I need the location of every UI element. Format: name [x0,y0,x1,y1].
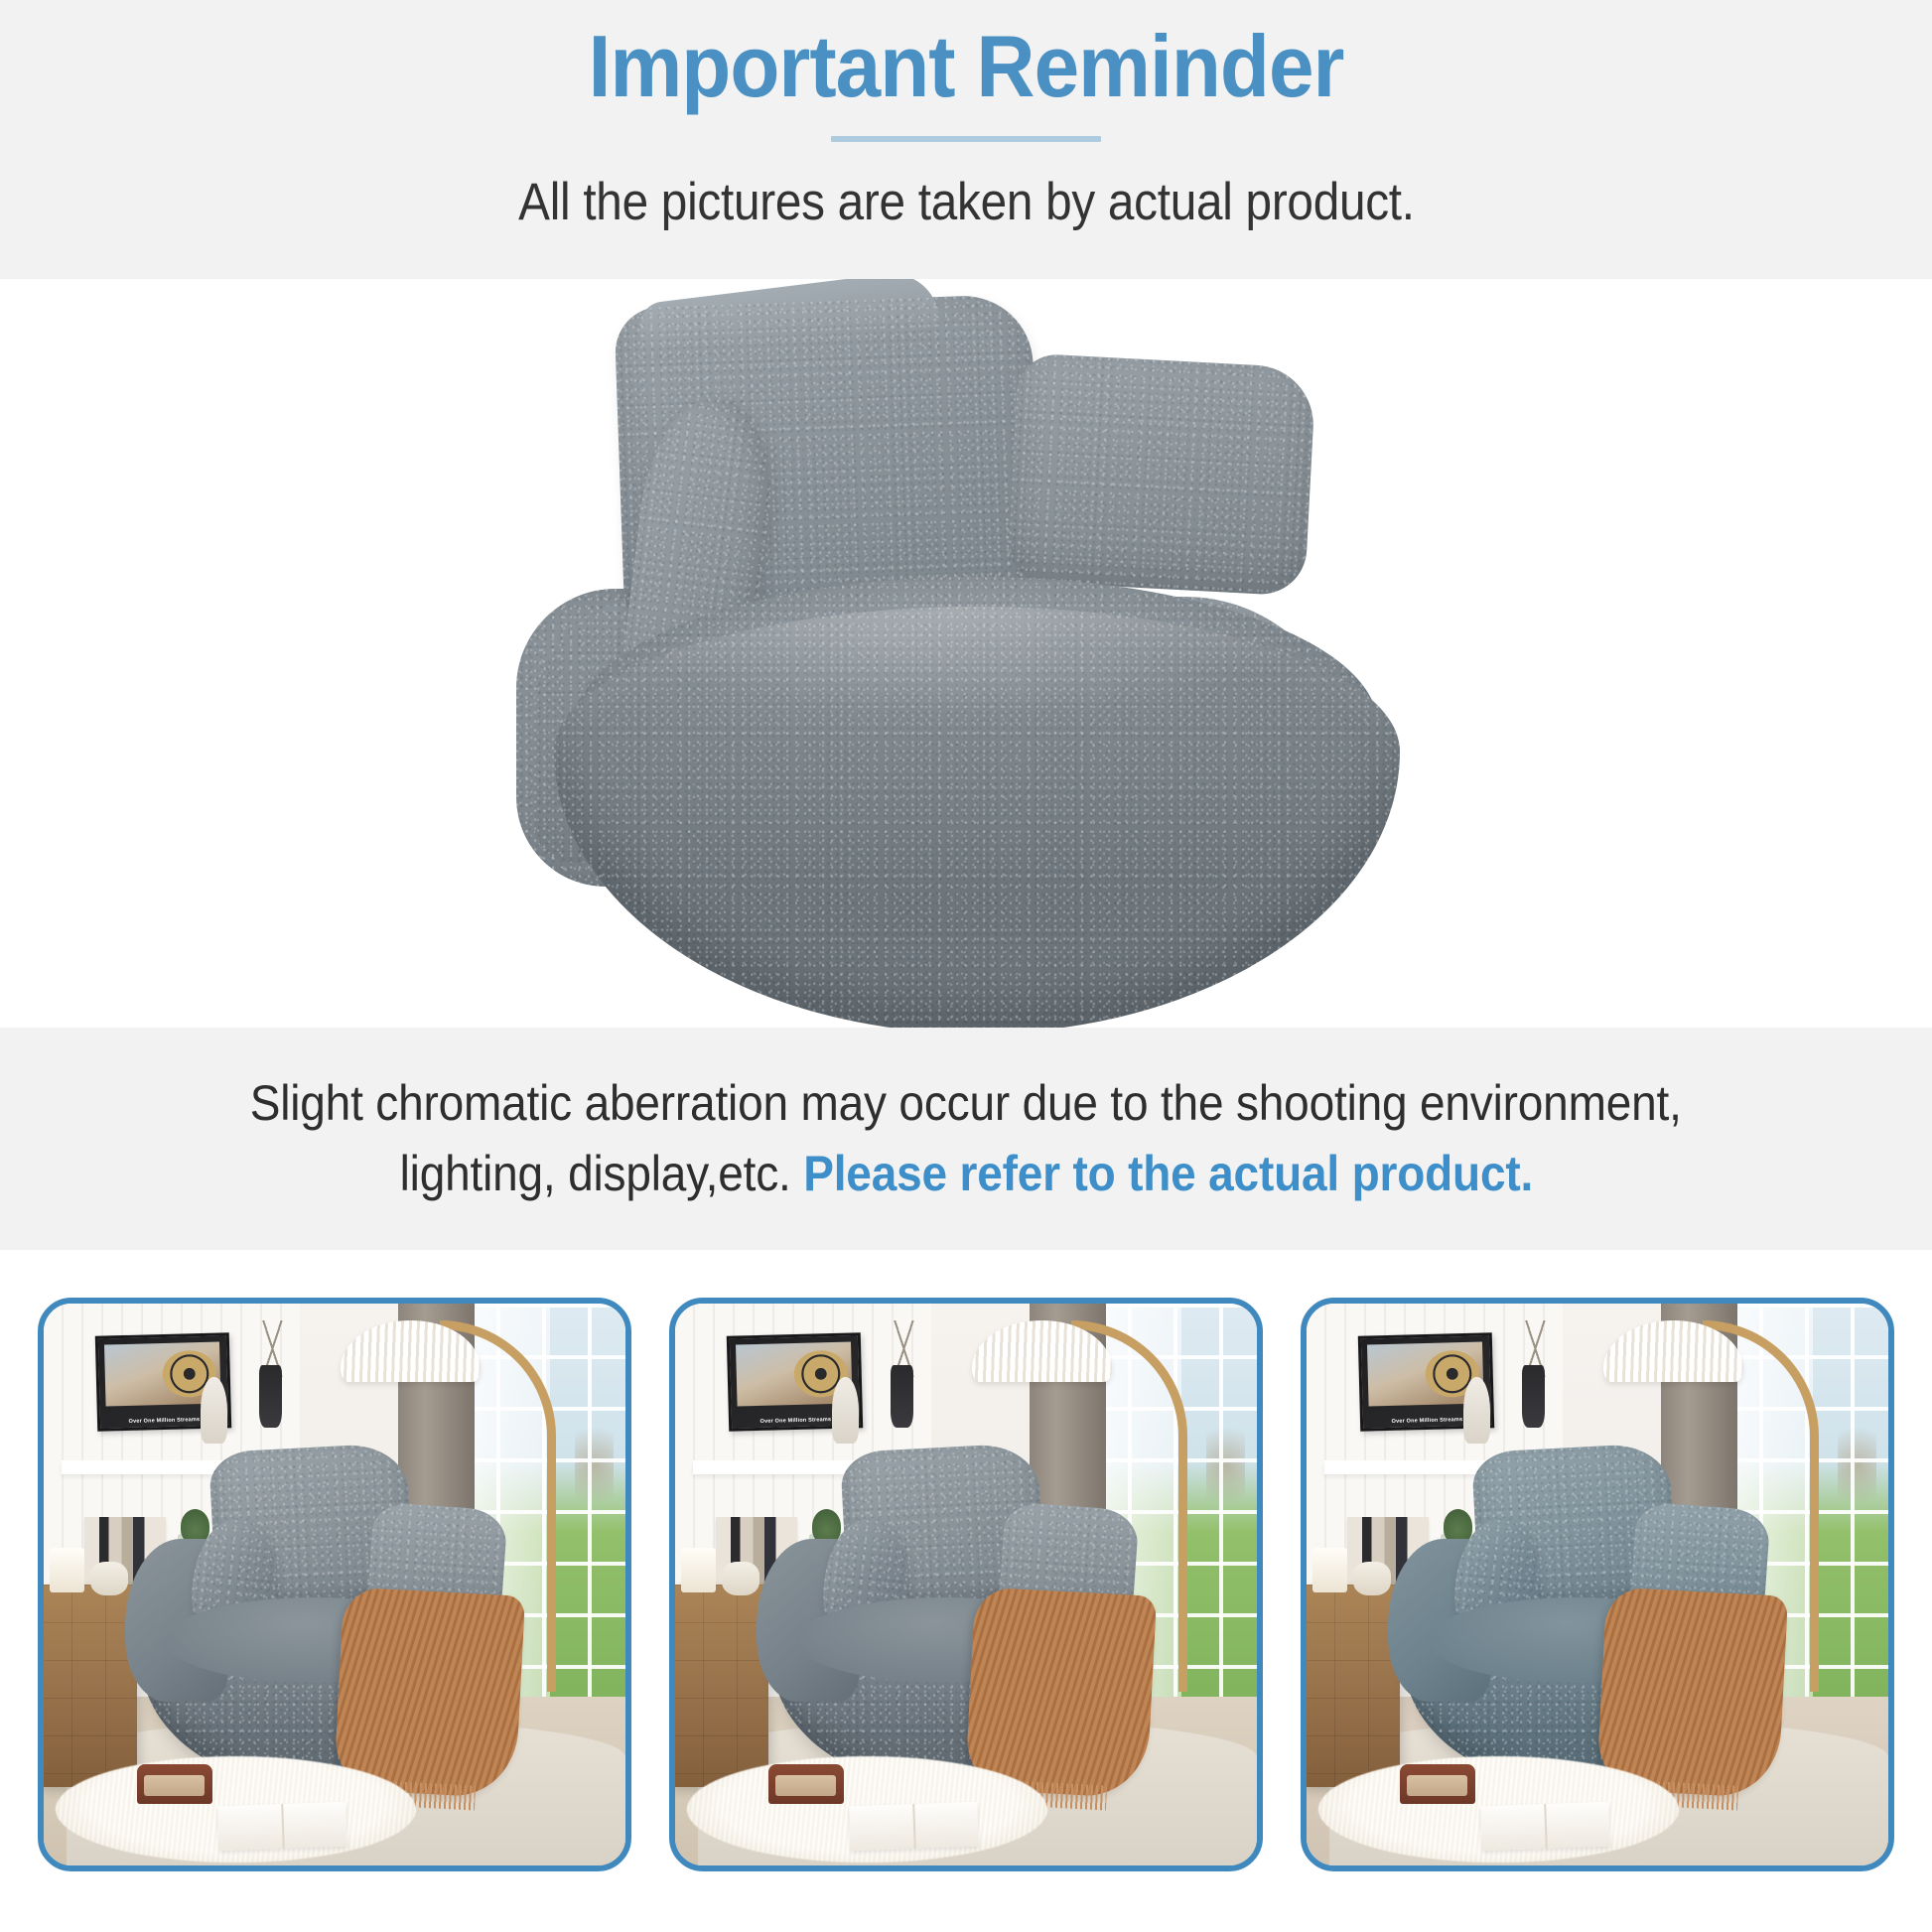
tall-black-vase [891,1365,913,1427]
hero-chair-illustration [0,279,1932,1028]
throw-blanket [1596,1587,1789,1798]
chair-lumbar-pillow [1007,352,1316,596]
disclaimer-line-1: Slight chromatic aberration may occur du… [250,1068,1682,1139]
disclaimer-line-2: lighting, display,etc. Please refer to t… [399,1139,1532,1209]
thumbnail-3[interactable]: Over One Million Streams [1301,1298,1894,1871]
pillar-candle [681,1548,716,1592]
boucle-texture [554,607,1400,1028]
tall-black-vase [1522,1365,1545,1427]
wood-side-table [1307,1585,1400,1787]
white-figurine [201,1377,226,1445]
tree [1206,1412,1245,1520]
thumbnail-2[interactable]: Over One Million Streams [669,1298,1263,1871]
hero-product-image [0,279,1932,1028]
title-divider [831,136,1101,142]
wood-side-table [44,1585,137,1787]
open-magazine [217,1802,346,1852]
disclaimer-line-2-plain: lighting, display,etc. [399,1146,803,1201]
room-scene: Over One Million Streams [1307,1304,1888,1865]
vintage-radio [768,1764,844,1804]
throw-blanket [334,1587,526,1798]
wood-side-table [675,1585,768,1787]
glass-candle-holder [722,1562,759,1595]
page-title: Important Reminder [589,18,1344,116]
glass-candle-holder [1353,1562,1391,1595]
white-figurine [832,1377,858,1445]
header-band: Important Reminder All the pictures are … [0,0,1932,279]
room-scene: Over One Million Streams [44,1304,625,1865]
room-scene: Over One Million Streams [675,1304,1257,1865]
boucle-texture [1007,352,1316,596]
disclaimer-band: Slight chromatic aberration may occur du… [0,1028,1932,1250]
swivel-chair [1388,1460,1783,1786]
chair-round-base [554,607,1400,1028]
vintage-radio [137,1764,212,1804]
tall-black-vase [259,1365,282,1427]
open-magazine [849,1802,978,1852]
swivel-chair [757,1460,1152,1786]
tree [575,1412,614,1520]
pillar-candle [1312,1548,1347,1592]
pillar-candle [50,1548,84,1592]
tree [1838,1412,1876,1520]
throw-blanket [965,1587,1158,1798]
open-magazine [1480,1802,1609,1852]
glass-candle-holder [90,1562,128,1595]
product-listing-page: Important Reminder All the pictures are … [0,0,1932,1932]
disclaimer-accent-text: Please refer to the actual product. [803,1146,1533,1201]
thumbnail-1[interactable]: Over One Million Streams [38,1298,631,1871]
thumbnail-gallery: Over One Million Streams [0,1298,1932,1873]
white-figurine [1463,1377,1489,1445]
vintage-radio [1400,1764,1475,1804]
swivel-chair [125,1460,520,1786]
header-subtitle: All the pictures are taken by actual pro… [518,172,1415,232]
